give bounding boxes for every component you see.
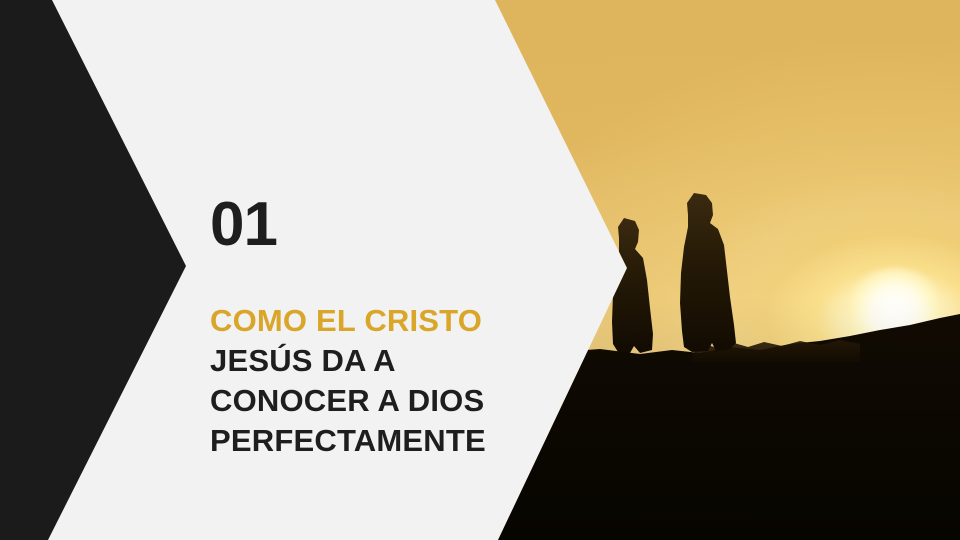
main-heading: JESÚS DA A CONOCER A DIOS PERFECTAMENTE bbox=[210, 341, 540, 461]
main-heading-line-2: CONOCER A DIOS bbox=[210, 381, 540, 421]
headline-block: COMO EL CRISTO JESÚS DA A CONOCER A DIOS… bbox=[210, 301, 540, 461]
accent-heading: COMO EL CRISTO bbox=[210, 301, 540, 341]
main-heading-line-1: JESÚS DA A bbox=[210, 341, 540, 381]
slide-content: 01 COMO EL CRISTO JESÚS DA A CONOCER A D… bbox=[210, 0, 540, 540]
slide-canvas: 01 COMO EL CRISTO JESÚS DA A CONOCER A D… bbox=[0, 0, 960, 540]
main-heading-line-3: PERFECTAMENTE bbox=[210, 421, 540, 461]
left-chevron-shape bbox=[0, 0, 200, 540]
slide-number: 01 bbox=[210, 194, 277, 256]
